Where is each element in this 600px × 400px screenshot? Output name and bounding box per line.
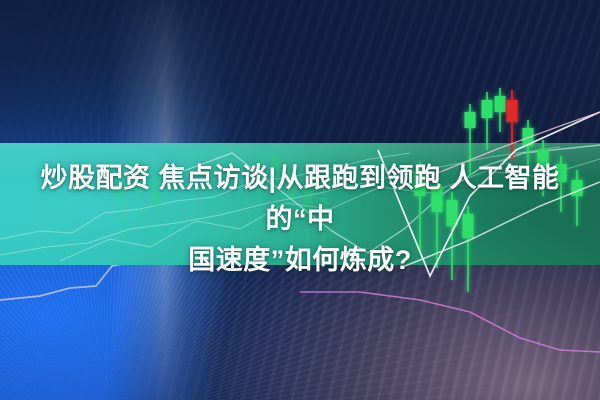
candlestick [482, 92, 493, 150]
headline-text: 炒股配资 焦点访谈|从跟跑到领跑 人工智能的“中 国速度”如何炼成? [0, 158, 600, 281]
headline-line-1: 炒股配资 焦点访谈|从跟跑到领跑 人工智能的“中 [6, 158, 594, 240]
banner-image: 炒股配资 焦点访谈|从跟跑到领跑 人工智能的“中 国速度”如何炼成? [0, 0, 600, 400]
headline-line-2: 国速度”如何炼成? [6, 240, 594, 281]
candlestick [495, 88, 506, 132]
